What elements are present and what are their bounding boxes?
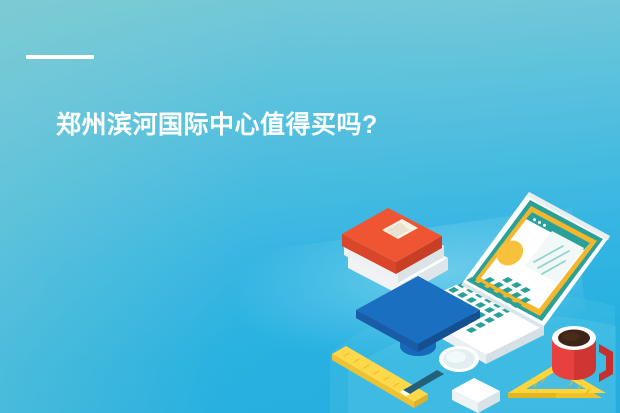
promo-banner: 郑州滨河国际中心值得买吗? — [0, 0, 620, 413]
banner-title: 郑州滨河国际中心值得买吗? — [56, 108, 378, 142]
illustration-isometric-desk — [320, 178, 620, 413]
accent-rule — [26, 55, 94, 59]
book-stack-icon — [342, 208, 448, 296]
